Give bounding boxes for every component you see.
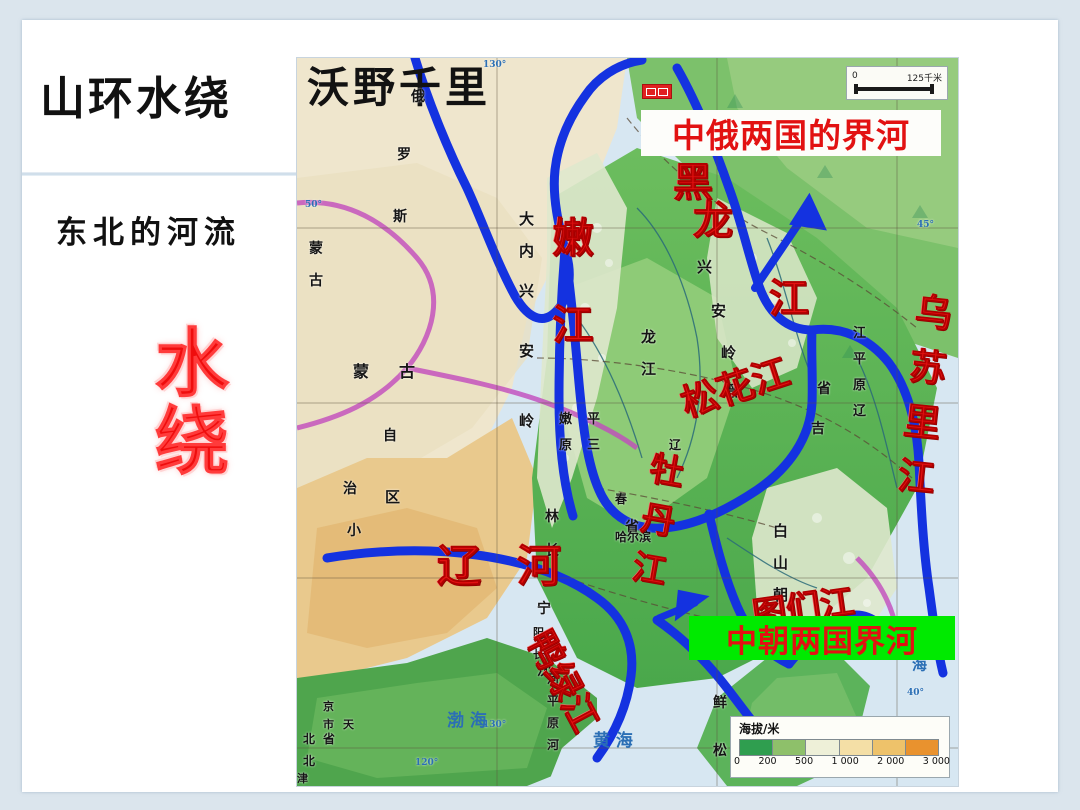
- legend-swatch-2: [805, 739, 838, 756]
- place-label-song: 嫩: [559, 408, 572, 427]
- place-label-jiang: 省: [817, 378, 831, 398]
- scale-start: 0: [852, 71, 858, 84]
- place-label-san: 江: [853, 322, 866, 341]
- place-label-xing: 兴: [519, 280, 534, 301]
- map-scale-bar: 0 125千米: [846, 66, 948, 100]
- map-artwork: [297, 58, 958, 786]
- scale-bar-line: [854, 87, 934, 91]
- heilong-river-label-2: 龙: [693, 188, 733, 246]
- place-label-ping: 原: [559, 434, 572, 453]
- callout-china-russia-border-river: 中俄两国的界河: [641, 110, 941, 156]
- place-label-inner-meng: 蒙: [353, 358, 369, 382]
- place-label-yuan3: 河: [547, 736, 559, 753]
- graticule-label-130e-top: 130°: [483, 60, 506, 70]
- page-title: 山环水绕: [40, 62, 290, 127]
- nen-river-label: 嫩江: [539, 216, 599, 390]
- legend-swatches: [739, 739, 939, 754]
- left-text-column: 山环水绕 东北的河流 水 绕: [22, 20, 296, 792]
- place-label-sheng: 吉: [811, 418, 825, 438]
- place-label-beijing-shi: 天: [343, 716, 354, 732]
- place-label-zhi: 治: [343, 478, 357, 498]
- sea-label-huanghai: 黄 海: [593, 726, 633, 751]
- place-label-hei: 龙: [641, 326, 656, 347]
- legend-tick-5: 3 000: [923, 756, 950, 767]
- place-label-liao: 宁: [537, 598, 551, 618]
- place-label-e: 俄: [411, 86, 425, 106]
- callout-china-korea-border-river: 中朝两国界河: [689, 616, 955, 660]
- panel-divider: [22, 172, 296, 176]
- place-label-harbin: 辽: [669, 436, 681, 453]
- place-label-ping2: 原: [853, 374, 866, 393]
- graticule-label-45n: 45°: [917, 220, 934, 230]
- map-elevation-legend: 海拔/米 0 200 500 1 000 2 000 3 000: [730, 716, 950, 778]
- place-label-yuan: 三: [587, 434, 600, 453]
- place-label-beijing-jing: 市: [323, 716, 334, 732]
- place-label-gu: 古: [309, 270, 323, 290]
- heilong-river-label-3: 江: [769, 266, 809, 324]
- legend-swatch-4: [872, 739, 905, 756]
- emphasis-text-block: 水 绕: [122, 325, 262, 481]
- legend-swatch-3: [839, 739, 872, 756]
- place-label-yuan2: 辽: [853, 400, 866, 419]
- legend-tick-1: 200: [758, 756, 776, 767]
- northeast-china-rivers-map[interactable]: 沃野千里 0 125千米 海拔/米 0 200 500: [297, 58, 958, 786]
- place-label-hebei-sheng: 北: [303, 752, 315, 769]
- place-label-beijing-bei: 京: [323, 698, 334, 714]
- place-label-ji: 林: [545, 506, 559, 526]
- place-label-jiang2: 平: [853, 348, 866, 367]
- legend-tick-4: 2 000: [877, 756, 904, 767]
- place-label-an: 安: [519, 340, 534, 361]
- legend-tick-labels: 0 200 500 1 000 2 000 3 000: [731, 756, 953, 767]
- place-label-bai: 山: [773, 552, 788, 573]
- place-label-chang2: 白: [773, 520, 788, 541]
- sea-label-bohai: 渤 海: [447, 706, 487, 731]
- legend-tick-0: 0: [734, 756, 740, 767]
- place-label-qu: 小: [347, 520, 361, 540]
- legend-title: 海拔/米: [739, 720, 779, 737]
- map-red-marker-icon: [642, 84, 672, 99]
- graticule-label-40n: 40°: [907, 688, 924, 698]
- page-subtitle: 东北的河流: [56, 207, 306, 252]
- place-label-tianjin-tian: 津: [297, 770, 308, 786]
- legend-swatch-1: [772, 739, 805, 756]
- place-label-meng: 蒙: [309, 238, 323, 258]
- place-label-hebei-he: 北: [303, 730, 315, 747]
- place-label-si: 斯: [393, 206, 407, 226]
- scale-end: 125千米: [907, 71, 942, 84]
- slide-root: 山环水绕 东北的河流 水 绕: [0, 0, 1080, 810]
- place-label-nen: 平: [587, 408, 600, 427]
- place-label-inner-gu: 古: [399, 358, 415, 382]
- place-label-ling: 岭: [519, 410, 534, 431]
- place-label-zi: 自: [383, 425, 397, 445]
- place-label-hebei-bei: 省: [323, 730, 335, 747]
- place-label-xing2: 安: [711, 300, 726, 321]
- graticule-label-120e: 120°: [415, 758, 438, 768]
- place-label-chao: 鲜: [713, 692, 727, 712]
- place-label-xiao: 兴: [697, 256, 712, 277]
- graticule-label-50n: 50°: [305, 200, 322, 210]
- place-label-ling2: 区: [385, 486, 400, 507]
- legend-swatch-5: [905, 739, 939, 756]
- liao-river-label: 辽河: [437, 530, 597, 594]
- map-overlay-title: 沃野千里: [307, 58, 491, 115]
- legend-swatch-0: [739, 739, 772, 756]
- place-label-long: 江: [641, 358, 656, 379]
- place-label-xian: 松: [713, 740, 727, 760]
- place-label-nei: 内: [519, 240, 534, 261]
- place-label-da: 大: [519, 208, 534, 229]
- place-label-chang: 春: [615, 490, 627, 507]
- place-label-luo: 罗: [397, 144, 411, 164]
- legend-tick-2: 500: [795, 756, 813, 767]
- legend-tick-3: 1 000: [832, 756, 859, 767]
- emphasis-char-2: 绕: [122, 403, 262, 481]
- emphasis-char-1: 水: [122, 325, 262, 403]
